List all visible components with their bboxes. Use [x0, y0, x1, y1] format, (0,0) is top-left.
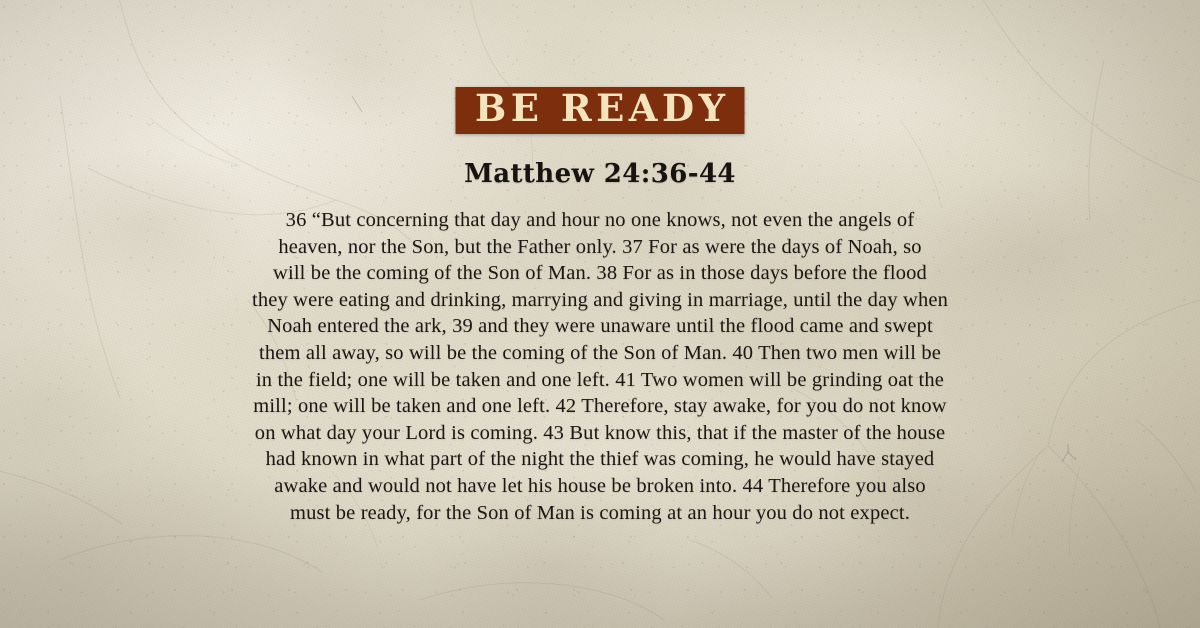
- passage-line: on what day your Lord is coming. 43 But …: [180, 420, 1020, 447]
- content-area: BE READY Matthew 24:36-44 36 “But concer…: [0, 0, 1200, 628]
- passage-line: 36 “But concerning that day and hour no …: [180, 207, 1020, 234]
- title-text: BE READY: [470, 90, 729, 128]
- passage-line: awake and would not have let his house b…: [180, 473, 1020, 500]
- passage-line: must be ready, for the Son of Man is com…: [180, 500, 1020, 527]
- passage-line: Noah entered the ark, 39 and they were u…: [180, 313, 1020, 340]
- passage-line: in the field; one will be taken and one …: [180, 367, 1020, 394]
- passage-line: will be the coming of the Son of Man. 38…: [180, 260, 1020, 287]
- passage-line: heaven, nor the Son, but the Father only…: [180, 234, 1020, 261]
- passage-line: they were eating and drinking, marrying …: [180, 287, 1020, 314]
- passage-line: mill; one will be taken and one left. 42…: [180, 393, 1020, 420]
- passage-line: had known in what part of the night the …: [180, 446, 1020, 473]
- scripture-reference: Matthew 24:36-44: [0, 159, 1200, 189]
- scripture-graphic: BE READY Matthew 24:36-44 36 “But concer…: [0, 0, 1200, 628]
- passage-line: them all away, so will be the coming of …: [180, 340, 1020, 367]
- scripture-passage: 36 “But concerning that day and hour no …: [180, 207, 1020, 526]
- title-banner: BE READY: [455, 87, 744, 134]
